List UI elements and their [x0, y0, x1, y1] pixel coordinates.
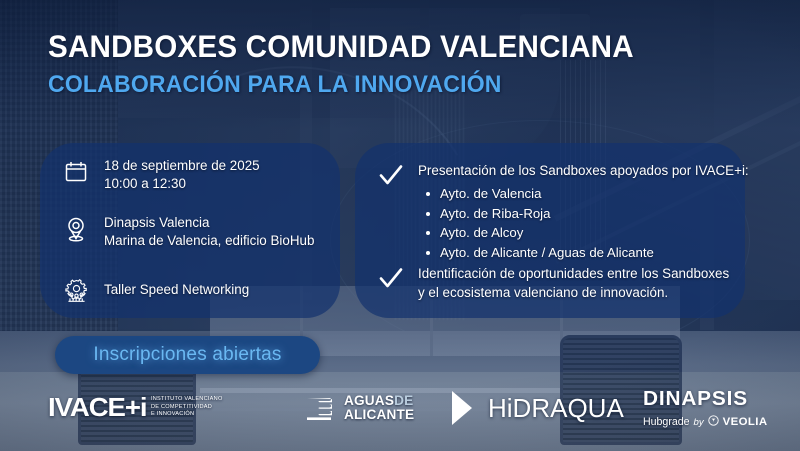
agenda-item-2-body: Identificación de oportunidades entre lo… — [418, 265, 729, 302]
logo-hidraqua: HiDRAQUA — [450, 390, 624, 426]
triangle-arrow-icon — [450, 390, 474, 426]
location-line-1: Dinapsis Valencia — [104, 214, 314, 232]
map-pin-icon — [62, 214, 90, 244]
ivace-tagline-line-1: INSTITUTO VALENCIANO — [151, 396, 223, 403]
agenda-item-1-bullets: Ayto. de Valencia Ayto. de Riba-Roja Ayt… — [418, 184, 749, 262]
logo-dinapsis: DINAPSIS Hubgrade by VEOLIA — [643, 388, 767, 431]
event-poster: SANDBOXES COMUNIDAD VALENCIANA COLABORAC… — [0, 0, 800, 451]
activity-line-1: Taller Speed Networking — [104, 281, 249, 299]
dinapsis-subline: Hubgrade by VEOLIA — [643, 413, 767, 431]
logo-aguas-de-alicante: AGUASDE ALICANTE — [305, 394, 414, 422]
detail-date-text: 18 de septiembre de 2025 10:00 a 12:30 — [104, 157, 260, 192]
agenda-item-1-heading: Presentación de los Sandboxes apoyados p… — [418, 162, 749, 180]
dinapsis-hubgrade: Hubgrade — [643, 416, 690, 428]
ivace-tagline-line-3: E INNOVACIÓN — [151, 411, 223, 418]
aguas-line-1-suffix: DE — [394, 393, 413, 408]
aguas-line-2: ALICANTE — [344, 408, 414, 422]
ivace-wordmark: IVACE+i — [48, 392, 147, 423]
agenda-item-2-line-2: y el ecosistema valenciano de innovación… — [418, 284, 729, 303]
agenda-item-1: Presentación de los Sandboxes apoyados p… — [378, 162, 749, 262]
page-title: SANDBOXES COMUNIDAD VALENCIANA — [48, 28, 725, 65]
calendar-icon — [62, 157, 90, 187]
registration-cta-label: Inscripciones abiertas — [93, 344, 281, 366]
gear-people-icon — [62, 275, 90, 305]
hidraqua-wordmark: HiDRAQUA — [488, 393, 624, 424]
location-line-2: Marina de Valencia, edificio BioHub — [104, 232, 314, 250]
date-line-1: 18 de septiembre de 2025 — [104, 157, 260, 175]
detail-location-text: Dinapsis Valencia Marina de Valencia, ed… — [104, 214, 314, 249]
agenda-item-1-body: Presentación de los Sandboxes apoyados p… — [418, 162, 749, 262]
list-item: Ayto. de Alicante / Aguas de Alicante — [418, 243, 749, 263]
veolia-mark-icon — [708, 413, 719, 431]
sponsor-logo-bar: IVACE+i INSTITUTO VALENCIANO DE COMPETIT… — [0, 380, 800, 438]
list-item: Ayto. de Valencia — [418, 184, 749, 204]
aguas-line-1: AGUAS — [344, 393, 394, 408]
dinapsis-by: by — [694, 417, 704, 428]
ivace-tagline: INSTITUTO VALENCIANO DE COMPETITIVIDAD E… — [151, 396, 223, 418]
detail-row-date: 18 de septiembre de 2025 10:00 a 12:30 — [62, 157, 260, 192]
detail-activity-text: Taller Speed Networking — [104, 281, 249, 299]
agenda-item-2-line-1: Identificación de oportunidades entre lo… — [418, 265, 729, 284]
registration-cta-button[interactable]: Inscripciones abiertas — [55, 336, 320, 374]
page-subtitle: COLABORACIÓN PARA LA INNOVACIÓN — [48, 71, 725, 99]
logo-ivace: IVACE+i INSTITUTO VALENCIANO DE COMPETIT… — [48, 392, 223, 423]
date-line-2: 10:00 a 12:30 — [104, 175, 260, 193]
waves-icon — [305, 394, 335, 422]
list-item: Ayto. de Alcoy — [418, 223, 749, 243]
detail-row-activity: Taller Speed Networking — [62, 275, 249, 305]
agenda-item-2: Identificación de oportunidades entre lo… — [378, 265, 729, 302]
aguas-wordmark: AGUASDE ALICANTE — [344, 394, 414, 422]
headline-block: SANDBOXES COMUNIDAD VALENCIANA COLABORAC… — [48, 28, 768, 99]
list-item: Ayto. de Riba-Roja — [418, 204, 749, 224]
veolia-wordmark: VEOLIA — [723, 416, 768, 428]
check-icon — [378, 163, 404, 189]
dinapsis-wordmark: DINAPSIS — [643, 388, 748, 411]
detail-row-location: Dinapsis Valencia Marina de Valencia, ed… — [62, 214, 314, 249]
check-icon — [378, 266, 404, 292]
